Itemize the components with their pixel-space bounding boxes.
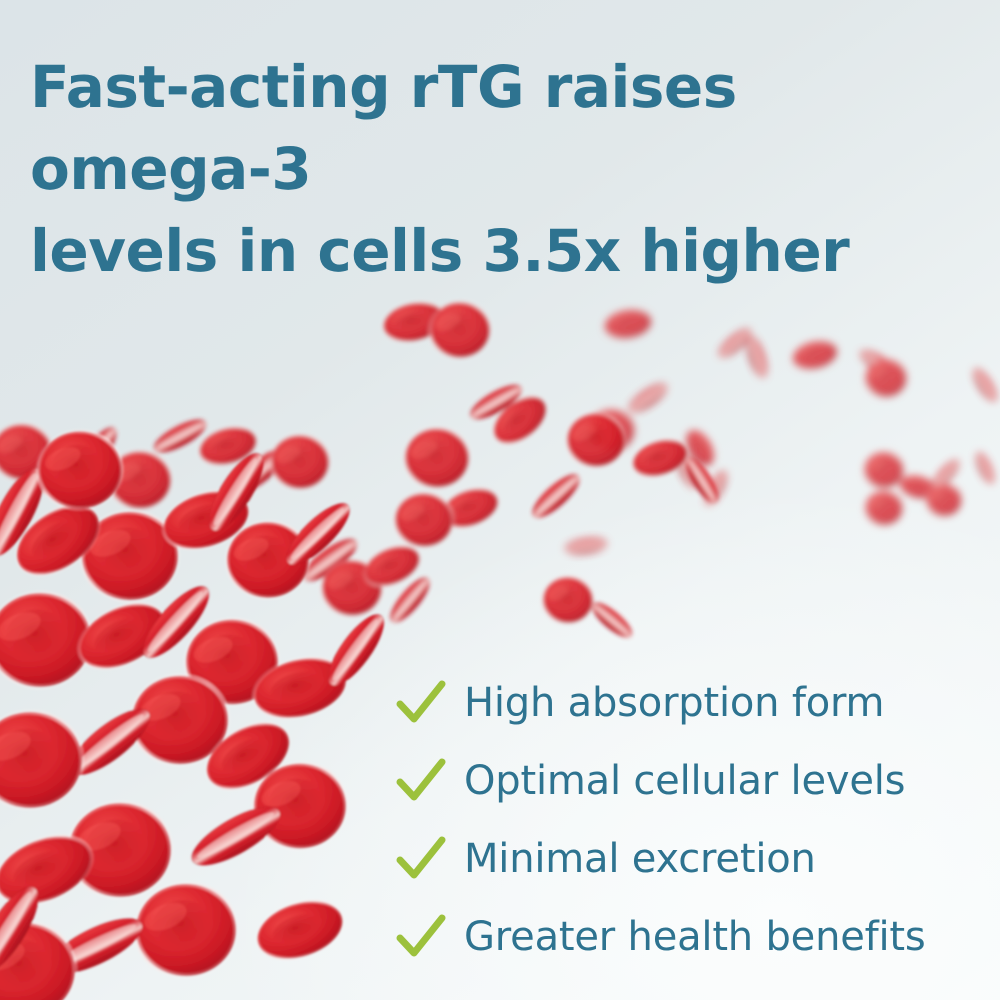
- check-icon: [396, 756, 446, 806]
- benefit-label: Greater health benefits: [464, 914, 926, 960]
- page-title: Fast-acting rTG raises omega-3 levels in…: [30, 46, 980, 292]
- promotional-poster: Fast-acting rTG raises omega-3 levels in…: [0, 0, 1000, 1000]
- check-icon: [396, 678, 446, 728]
- check-icon: [396, 912, 446, 962]
- benefit-label: High absorption form: [464, 680, 884, 726]
- benefit-label: Minimal excretion: [464, 836, 816, 882]
- benefits-list: High absorption form Optimal cellular le…: [396, 664, 996, 976]
- list-item: Greater health benefits: [396, 898, 996, 976]
- list-item: Minimal excretion: [396, 820, 996, 898]
- list-item: High absorption form: [396, 664, 996, 742]
- check-icon: [396, 834, 446, 884]
- list-item: Optimal cellular levels: [396, 742, 996, 820]
- benefit-label: Optimal cellular levels: [464, 758, 905, 804]
